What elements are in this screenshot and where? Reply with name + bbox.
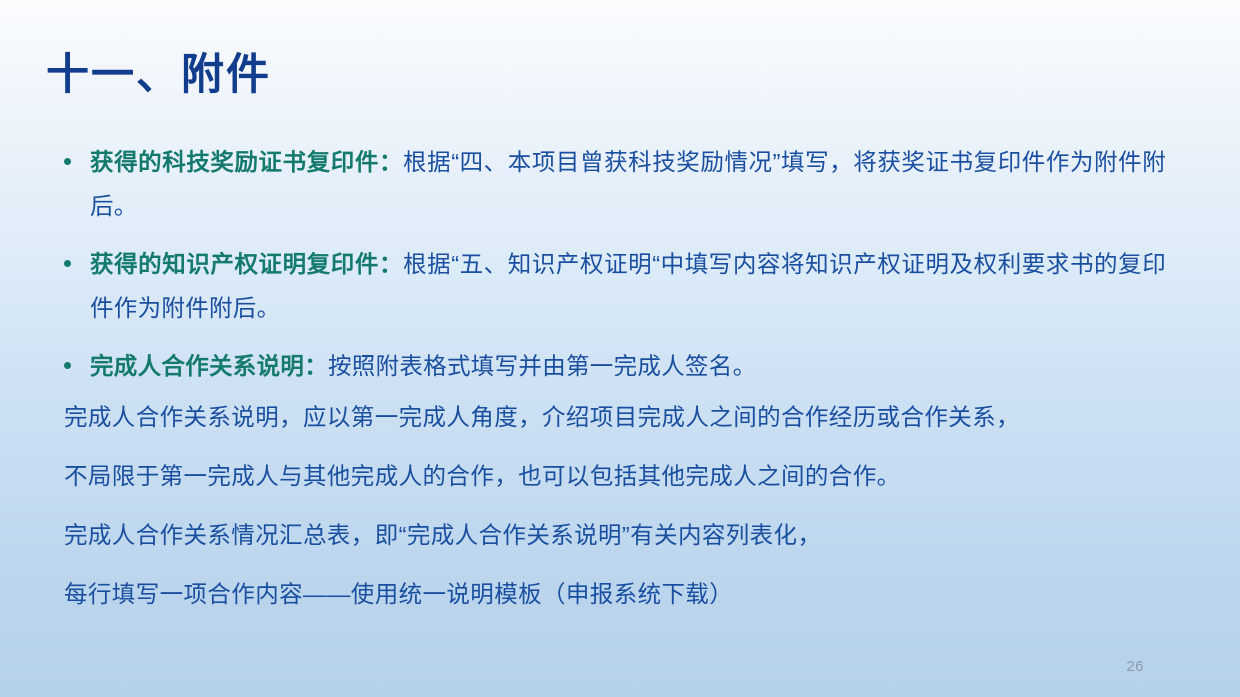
- bullet-dot-icon: [64, 260, 71, 267]
- bullet-dot-icon: [64, 362, 71, 369]
- page-number: 26: [1126, 658, 1144, 675]
- list-item: 获得的知识产权证明复印件：根据“五、知识产权证明“中填写内容将知识产权证明及权利…: [56, 242, 1166, 330]
- paragraph-line: 完成人合作关系说明，应以第一完成人角度，介绍项目完成人之间的合作经历或合作关系，: [64, 402, 1184, 432]
- page-title: 十一、附件: [46, 50, 271, 102]
- bullet-list: 获得的科技奖励证书复印件：根据“四、本项目曾获科技奖励情况”填写，将获奖证书复印…: [56, 140, 1166, 402]
- bullet-lead-label: 获得的科技奖励证书复印件：: [90, 149, 403, 175]
- bullet-lead-label: 获得的知识产权证明复印件：: [90, 251, 403, 277]
- bullet-lead-label: 完成人合作关系说明：: [90, 353, 328, 379]
- bullet-dot-icon: [64, 158, 71, 165]
- list-item: 获得的科技奖励证书复印件：根据“四、本项目曾获科技奖励情况”填写，将获奖证书复印…: [56, 140, 1166, 228]
- list-item: 完成人合作关系说明：按照附表格式填写并由第一完成人签名。: [56, 344, 1166, 388]
- paragraph-line: 完成人合作关系情况汇总表，即“完成人合作关系说明”有关内容列表化，: [64, 520, 1184, 550]
- paragraph-line: 每行填写一项合作内容——使用统一说明模板（申报系统下载）: [64, 579, 1184, 609]
- presentation-slide: 十一、附件 获得的科技奖励证书复印件：根据“四、本项目曾获科技奖励情况”填写，将…: [0, 0, 1240, 697]
- bullet-body-text: 按照附表格式填写并由第一完成人签名。: [328, 353, 756, 379]
- paragraph-block: 完成人合作关系说明，应以第一完成人角度，介绍项目完成人之间的合作经历或合作关系，…: [64, 402, 1184, 638]
- paragraph-line: 不局限于第一完成人与其他完成人的合作，也可以包括其他完成人之间的合作。: [64, 461, 1184, 491]
